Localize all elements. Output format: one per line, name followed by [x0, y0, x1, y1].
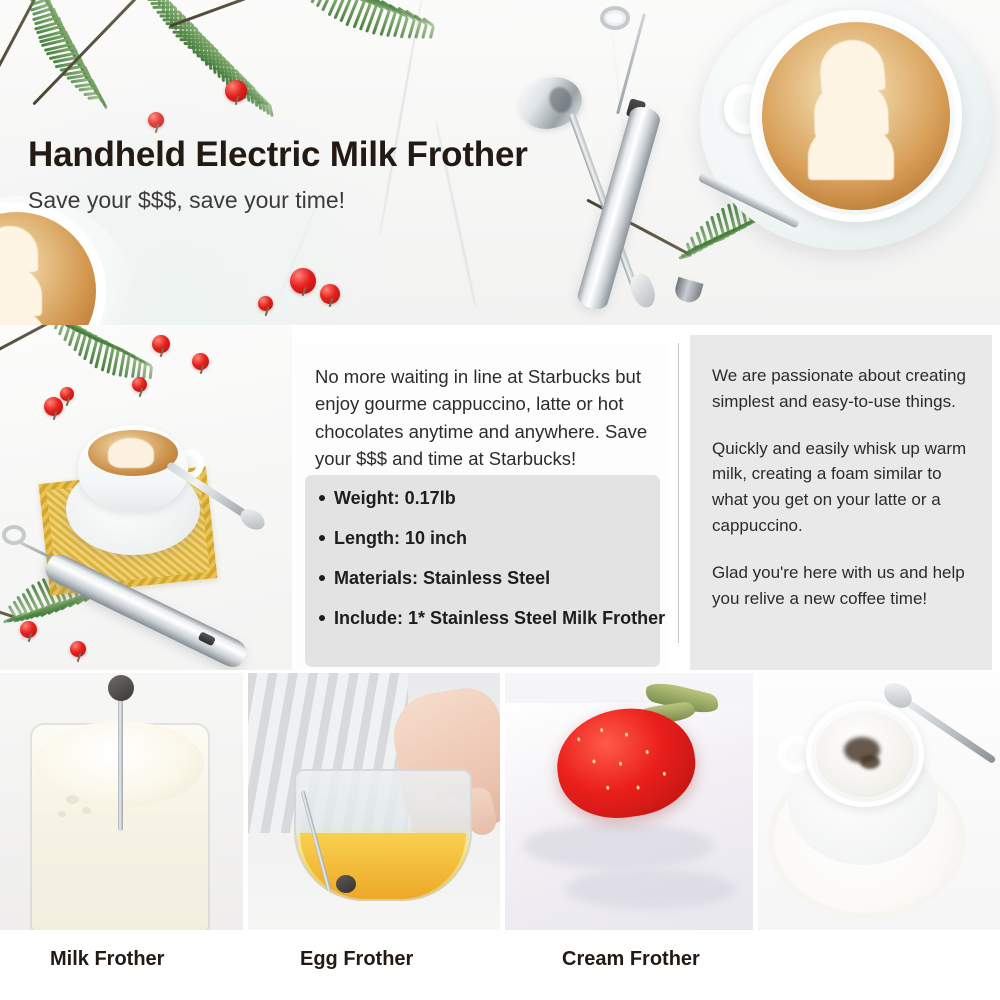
bullet-icon	[319, 575, 325, 581]
brand-paragraph: Glad you're here with us and help you re…	[712, 560, 970, 612]
milk-foam	[816, 711, 914, 797]
photo-panel-milk	[0, 673, 243, 930]
spec-item: Include: 1* Stainless Steel Milk Frother	[319, 609, 660, 627]
pine-needle	[159, 14, 184, 17]
product-frother	[0, 519, 276, 670]
caption-milk-frother: Milk Frother	[50, 948, 164, 971]
cocoa-dusting	[860, 755, 880, 769]
caption-row: Milk Frother Egg Frother Cream Frother	[0, 930, 1000, 1000]
foam-bubble	[66, 795, 79, 804]
red-berry-decor	[148, 112, 164, 128]
frother-motor-head	[108, 675, 134, 701]
bullet-icon	[319, 495, 325, 501]
red-berry-decor	[290, 268, 316, 294]
branch-stem	[0, 325, 60, 367]
latte-cup-bottom-left	[0, 196, 134, 325]
pine-needle	[268, 104, 274, 117]
spec-item: Materials: Stainless Steel	[319, 569, 660, 587]
strawberry-seed	[600, 728, 604, 732]
brand-paragraph: We are passionate about creating simples…	[712, 363, 970, 415]
strawberry-seed	[577, 737, 581, 741]
vertical-divider	[678, 343, 679, 643]
pine-needle	[124, 354, 131, 378]
foam-bubble	[82, 807, 91, 814]
pine-needle	[428, 26, 434, 39]
hero-section: Handheld Electric Milk Frother Save your…	[0, 0, 1000, 325]
red-berry-decor	[192, 353, 209, 370]
use-case-photo-strip	[0, 673, 1000, 930]
pine-needle	[130, 357, 136, 379]
red-berry-decor	[44, 397, 63, 416]
hero-product-frother	[500, 4, 800, 324]
brand-story-panel: We are passionate about creating simples…	[690, 335, 992, 670]
bullet-icon	[319, 535, 325, 541]
details-copy-panel: No more waiting in line at Starbucks but…	[297, 345, 668, 670]
bullet-icon	[319, 615, 325, 621]
strawberry-seed	[663, 772, 667, 776]
red-berry-decor	[225, 80, 247, 102]
photo-panel-cream	[505, 673, 753, 930]
photo-panel-cappuccino	[758, 673, 1000, 930]
caption-egg-frother: Egg Frother	[300, 948, 413, 971]
spec-item: Weight: 0.17lb	[319, 489, 660, 507]
cream-fold	[565, 869, 735, 909]
pine-branch-decor	[58, 325, 168, 387]
page-subtitle: Save your $$$, save your time!	[28, 187, 528, 214]
details-section: No more waiting in line at Starbucks but…	[0, 325, 1000, 670]
brand-paragraph: Quickly and easily whisk up warm milk, c…	[712, 436, 970, 539]
frother-end-cap	[672, 277, 703, 305]
strawberry-seed	[619, 762, 623, 766]
page-title: Handheld Electric Milk Frother	[28, 136, 528, 174]
cappuccino-cup	[806, 701, 924, 807]
latte-art-surface	[88, 430, 178, 476]
red-berry-decor	[132, 377, 147, 392]
spec-item: Length: 10 inch	[319, 529, 660, 547]
strawberry-seed	[592, 759, 596, 763]
caption-cream-frother: Cream Frother	[562, 948, 700, 971]
red-berry-decor	[320, 284, 340, 304]
strawberry-seed	[645, 750, 649, 754]
pine-branch-decor	[300, 0, 450, 48]
red-berry-decor	[60, 387, 74, 401]
product-infographic-page: Handheld Electric Milk Frother Save your…	[0, 0, 1000, 1000]
cream-fold	[523, 823, 713, 869]
specs-box: Weight: 0.17lb Length: 10 inch Materials…	[305, 475, 660, 667]
spec-text: Weight: 0.17lb	[334, 489, 456, 507]
frother-handle	[42, 550, 250, 670]
pine-needle	[421, 23, 428, 39]
intro-paragraph: No more waiting in line at Starbucks but…	[297, 345, 668, 479]
strawberry-seed	[606, 786, 610, 790]
hero-text-block: Handheld Electric Milk Frother Save your…	[28, 136, 528, 214]
spec-text: Materials: Stainless Steel	[334, 569, 550, 587]
whisk-shaft	[19, 541, 53, 559]
details-product-photo	[0, 325, 292, 670]
frother-wand	[118, 683, 123, 831]
spec-text: Length: 10 inch	[334, 529, 467, 547]
spoon-tip	[627, 271, 659, 310]
whisk-coil-head	[600, 6, 630, 30]
foam-bubble	[58, 811, 66, 817]
power-button-icon	[198, 631, 216, 646]
spec-text: Include: 1* Stainless Steel Milk Frother	[334, 609, 665, 627]
photo-panel-egg	[248, 673, 500, 930]
pine-needle	[148, 366, 152, 379]
red-berry-decor	[258, 296, 273, 311]
pine-needle	[156, 10, 180, 13]
strawberry-seed	[636, 785, 640, 789]
red-berry-decor	[152, 335, 170, 353]
frother-whisk-head	[336, 875, 356, 893]
strawberry-seed	[625, 732, 629, 736]
